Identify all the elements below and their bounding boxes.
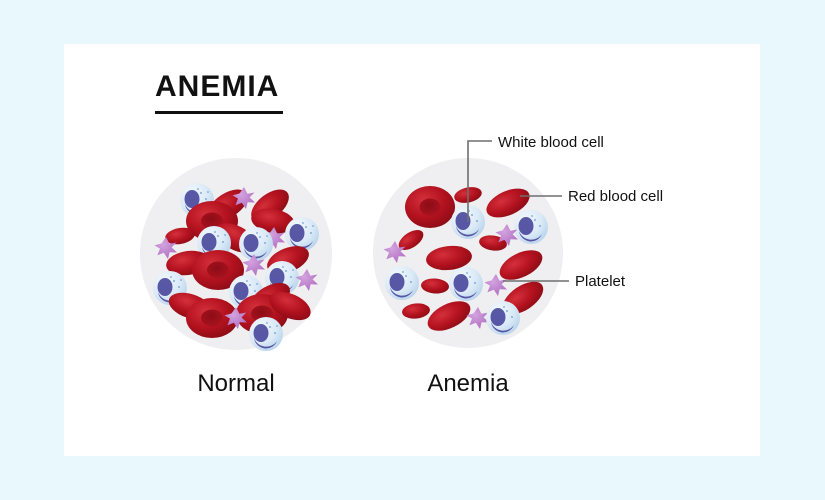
label-white-blood-cell: White blood cell [498, 134, 604, 151]
caption-anemia: Anemia [368, 370, 568, 398]
label-red-blood-cell: Red blood cell [568, 188, 663, 205]
panel-normal [140, 158, 336, 354]
page-title: ANEMIA [155, 72, 279, 102]
wbc-callout-target [451, 205, 485, 239]
label-platelet: Platelet [575, 273, 625, 290]
panel-anemia [373, 158, 565, 350]
caption-normal: Normal [136, 370, 336, 398]
illustration-canvas: ANEMIA [0, 0, 825, 500]
title-underline [155, 111, 283, 114]
